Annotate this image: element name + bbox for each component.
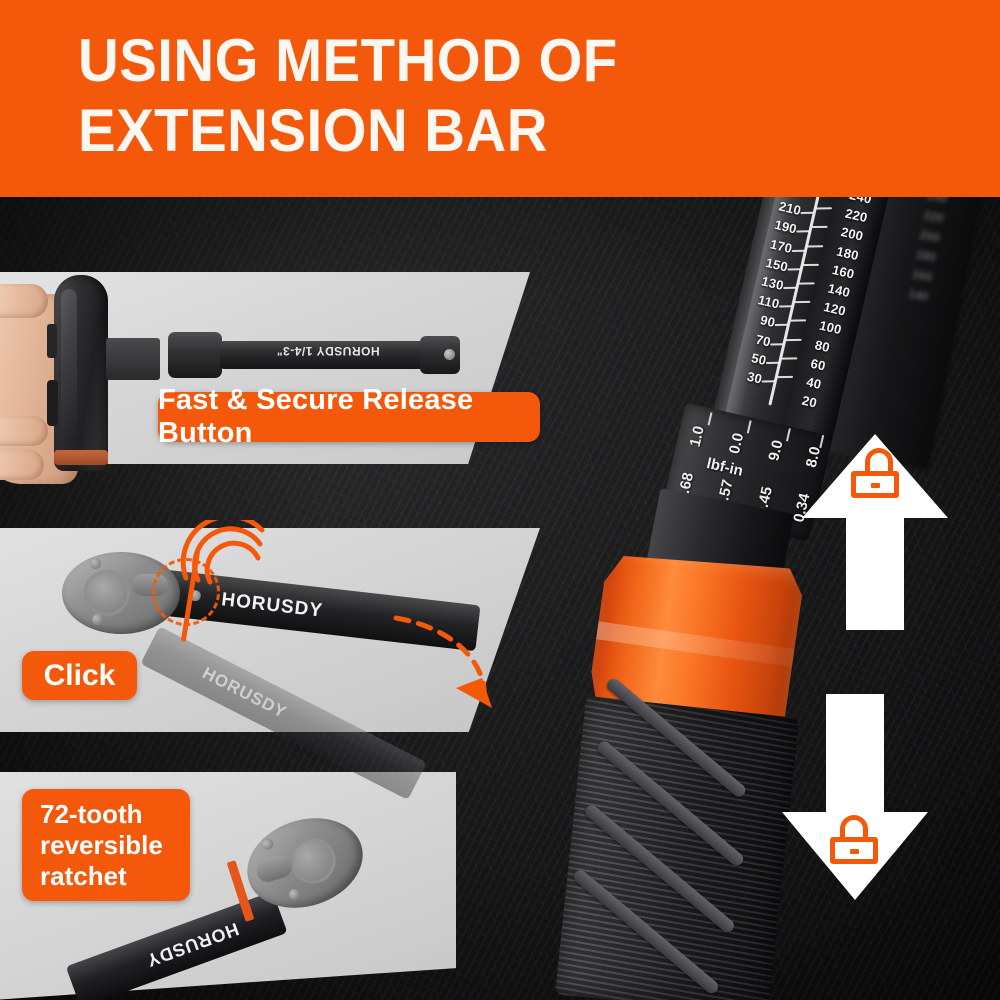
collar-highlight-band xyxy=(596,622,795,667)
wrench-grip-handle[interactable] xyxy=(555,696,799,1000)
badge-line-2: reversible xyxy=(40,830,163,861)
scale-tick xyxy=(786,338,802,340)
title-line-1: USING METHOD OF xyxy=(78,27,618,94)
lock-icon xyxy=(830,818,878,864)
ghost-scale-numbers: 240220200180160140 xyxy=(906,186,949,308)
scale-tick xyxy=(766,362,780,364)
scale-tick xyxy=(807,245,823,247)
scale-tick xyxy=(783,287,797,289)
badge-line-3: ratchet xyxy=(40,861,127,892)
scale-tick xyxy=(812,226,828,228)
scale-tick xyxy=(794,301,810,303)
scale-tick xyxy=(781,357,797,359)
collar-top-value: 0.0 xyxy=(726,431,747,455)
badge-line-1: 72-tooth xyxy=(40,799,143,830)
lock-body xyxy=(830,837,878,864)
scale-tick xyxy=(816,207,832,209)
collar-unit-label: lbf-in xyxy=(705,455,745,480)
scale-tick xyxy=(803,264,819,266)
badge-click: Click xyxy=(22,651,137,700)
collar-top-value: 9.0 xyxy=(765,438,786,462)
scale-tick xyxy=(770,343,784,345)
title-line-2: EXTENSION BAR xyxy=(78,96,886,166)
scale-tick xyxy=(762,380,776,382)
panel-click xyxy=(0,528,540,732)
scale-tick xyxy=(788,268,802,270)
unlock-icon xyxy=(851,452,899,498)
unlock-direction-arrow xyxy=(798,432,952,632)
badge-release-button: Fast & Secure Release Button xyxy=(158,392,540,442)
lock-direction-arrow xyxy=(778,690,932,902)
arrow-down-shape xyxy=(778,690,932,902)
header-banner: USING METHOD OF EXTENSION BAR xyxy=(0,0,1000,197)
badge-72-tooth: 72-tooth reversible ratchet xyxy=(22,789,190,901)
scale-tick xyxy=(792,249,806,251)
lock-body xyxy=(851,471,899,498)
scale-tick xyxy=(790,320,806,322)
scale-tick xyxy=(777,376,793,378)
collar-top-value: 1.0 xyxy=(687,424,708,448)
infographic-canvas: HORUSDY 20-240lbf-in lbf-in 240220200180… xyxy=(0,0,1000,1000)
page-title: USING METHOD OF EXTENSION BAR xyxy=(78,26,886,166)
scale-tick xyxy=(799,282,815,284)
